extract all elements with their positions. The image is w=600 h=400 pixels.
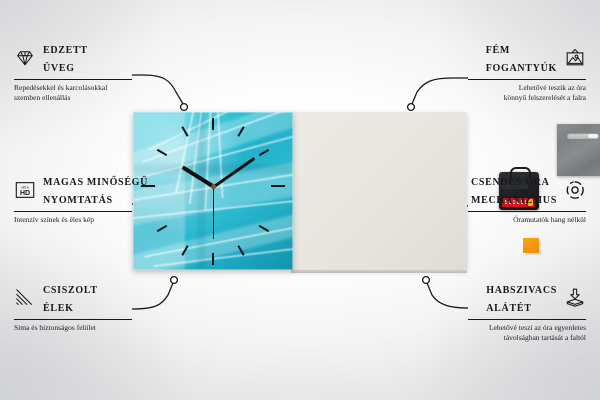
callout-title: MAGAS MINŐSÉGŰ NYOMTATÁS	[43, 172, 148, 208]
callout-high-quality-print: ultra HD MAGAS MINŐSÉGŰ NYOMTATÁS Intenz…	[14, 172, 132, 225]
callout-divider	[468, 319, 586, 320]
metal-hanger-plate	[557, 124, 600, 176]
callout-header: HABSZIVACS ALÁTÉT	[468, 280, 586, 316]
callout-header: ultra HD MAGAS MINŐSÉGŰ NYOMTATÁS	[14, 172, 132, 208]
callout-title: HABSZIVACS ALÁTÉT	[486, 280, 557, 316]
press-down-pad-icon	[564, 287, 586, 309]
callout-title: CSISZOLT ÉLEK	[43, 280, 98, 316]
ultra-hd-icon: ultra HD	[14, 179, 36, 201]
callout-divider	[468, 79, 586, 80]
callout-divider	[14, 211, 132, 212]
callout-title: EDZETT ÜVEG	[43, 40, 88, 76]
picture-frame-icon	[564, 47, 586, 69]
callout-divider	[14, 79, 132, 80]
callout-metal-hangers: FÉM FOGANTYÚK Lehetővé teszik az óra kön…	[468, 40, 586, 103]
clock-tick	[271, 185, 285, 187]
printed-glass-clock-face	[133, 112, 293, 270]
polished-edge-icon	[14, 287, 36, 309]
clock-center-pin	[211, 184, 216, 189]
hanger-slot	[567, 133, 599, 139]
callout-header: CSISZOLT ÉLEK	[14, 280, 132, 316]
callout-description-line: távolságban tartását a faltól	[468, 333, 586, 343]
clock-second-hand	[213, 187, 215, 239]
svg-text:ultra: ultra	[21, 185, 29, 189]
callout-title: CSENDES ÓRA MECHANIZMUS	[471, 172, 557, 208]
callout-tempered-glass: EDZETT ÜVEG Repedésekkel és karcolásokka…	[14, 40, 132, 103]
callout-description-line: könnyű felszerelését a falra	[468, 93, 586, 103]
clock-tick	[212, 118, 214, 130]
callout-description-line: Lehetővé teszi az óra egyenletes	[468, 323, 586, 333]
gear-icon	[564, 179, 586, 201]
callout-polished-edges: CSISZOLT ÉLEK Sima és biztonságos felüle…	[14, 280, 132, 333]
callout-description-line: Repedésekkel és karcolásokkal	[14, 83, 132, 93]
callout-description-line: Lehetővé teszik az óra	[468, 83, 586, 93]
callout-silent-clock-mechanism: CSENDES ÓRA MECHANIZMUS Óramutatók hang …	[468, 172, 586, 225]
clock-tick	[212, 253, 214, 265]
callout-foam-spacer: HABSZIVACS ALÁTÉT Lehetővé teszi az óra …	[468, 280, 586, 343]
callout-description-line: Sima és biztonságos felület	[14, 323, 132, 333]
diamond-icon	[14, 47, 36, 69]
product-photo	[133, 112, 467, 272]
foam-spacer-pad	[523, 238, 539, 253]
callout-divider	[468, 211, 586, 212]
callout-divider	[14, 319, 132, 320]
callout-description-line: Óramutatók hang nélkül	[468, 215, 586, 225]
callout-description-line: Intenzív színek és éles kép	[14, 215, 132, 225]
callout-description-line: szemben ellenállás	[14, 93, 132, 103]
callout-title: FÉM FOGANTYÚK	[486, 40, 557, 76]
svg-text:HD: HD	[20, 190, 30, 197]
callout-header: EDZETT ÜVEG	[14, 40, 132, 76]
callout-header: FÉM FOGANTYÚK	[468, 40, 586, 76]
callout-header: CSENDES ÓRA MECHANIZMUS	[468, 172, 586, 208]
infographic-canvas: EDZETT ÜVEG Repedésekkel és karcolásokka…	[0, 0, 600, 400]
clock-back-plate	[291, 112, 467, 270]
